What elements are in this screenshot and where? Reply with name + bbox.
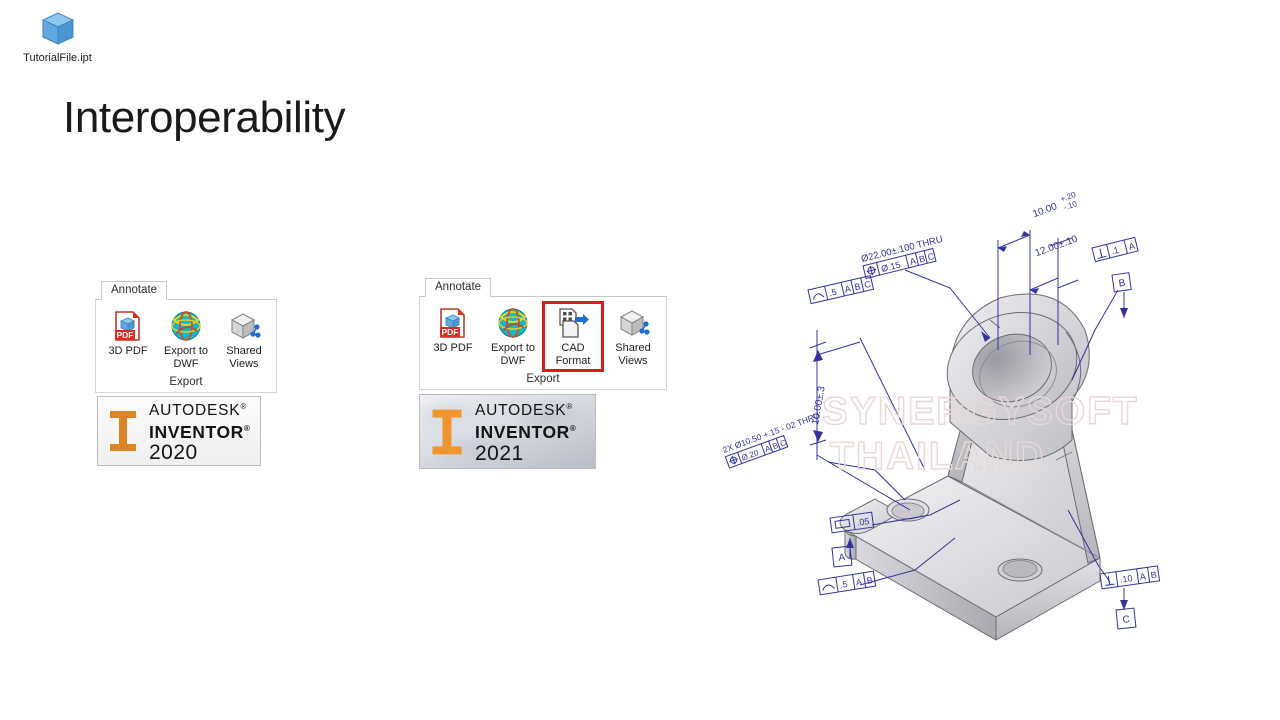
inventor-2021-logo: AUTODESK® INVENTOR® 2021 xyxy=(419,394,596,469)
ann-profile-left-a: A xyxy=(844,283,852,294)
ann-perp-right-tol: .1 xyxy=(1110,245,1120,257)
panel-group-label: Export xyxy=(100,373,272,392)
registered-mark: ® xyxy=(244,424,251,433)
pdf-3d-icon: PDF xyxy=(438,306,468,340)
button-label: Export to DWF xyxy=(488,342,538,368)
registered-mark: ® xyxy=(240,402,247,411)
ann-datum-c: C xyxy=(1122,614,1130,626)
button-label: Shared Views xyxy=(226,345,261,371)
ann-dim-12: 12.00±.10 xyxy=(1034,234,1080,260)
button-label: 3D PDF xyxy=(108,345,147,358)
shared-views-icon xyxy=(227,309,261,343)
logo-product: INVENTOR xyxy=(149,421,244,441)
button-shared-views[interactable]: Shared Views xyxy=(216,306,272,373)
registered-mark: ® xyxy=(570,424,577,433)
ann-profile-left-c: C xyxy=(863,279,872,290)
button-export-to-dwf[interactable]: Export to DWF xyxy=(158,306,214,373)
ann-perp-right-datum: A xyxy=(1128,241,1136,252)
button-label: 3D PDF xyxy=(433,342,472,355)
button-label: Export to DWF xyxy=(162,345,210,371)
svg-text:PDF: PDF xyxy=(117,330,134,340)
ann-perp-bottom-b: B xyxy=(1150,570,1157,581)
button-3d-pdf[interactable]: PDF 3D PDF xyxy=(100,306,156,360)
registered-mark: ® xyxy=(566,402,573,411)
ann-hole22-tol: Ø.15 xyxy=(880,260,901,274)
desktop-file-label: TutorialFile.ipt xyxy=(10,52,105,64)
export-panel: PDF 3D PDF Export to DWF xyxy=(419,297,667,390)
ipt-cube-icon xyxy=(10,8,105,50)
ann-perp-bottom-tol: .10 xyxy=(1119,573,1133,585)
ann-hole2x-b: B xyxy=(771,441,779,451)
cad-format-icon xyxy=(556,306,590,340)
ann-profile-bottom-tol: .5 xyxy=(839,579,848,590)
cad-model-view[interactable]: SYNERGYSOFT THAILAND xyxy=(700,170,1260,670)
ann-dim-10-top: 10.00 xyxy=(1031,201,1059,220)
cad-model-svg: Ø22.00±.100 THRU Ø.15 A B C 10.0 xyxy=(700,170,1260,670)
ann-profile-bottom-b: B xyxy=(866,575,874,586)
page-title: Interoperability xyxy=(63,93,345,143)
button-shared-views[interactable]: Shared Views xyxy=(604,303,662,370)
dwf-globe-icon xyxy=(170,309,202,343)
ann-profile-bottom-a: A xyxy=(855,577,863,588)
button-label: CAD Format xyxy=(548,342,598,368)
ann-profile-left-b: B xyxy=(853,281,861,292)
logo-brand: AUTODESK xyxy=(149,402,240,419)
logo-text: AUTODESK® INVENTOR® 2021 xyxy=(475,398,576,465)
logo-version: 2020 xyxy=(149,441,250,464)
autodesk-i-badge-icon xyxy=(428,405,466,459)
pdf-3d-icon: PDF xyxy=(113,309,143,343)
export-button-row: PDF 3D PDF Export to DWF xyxy=(424,303,662,370)
autodesk-i-badge-icon xyxy=(106,408,140,454)
svg-text:PDF: PDF xyxy=(442,327,459,337)
shared-views-icon xyxy=(616,306,650,340)
tab-annotate[interactable]: Annotate xyxy=(101,281,167,300)
ann-hole22-datum-a: A xyxy=(909,256,917,267)
dwf-globe-icon xyxy=(497,306,529,340)
tab-annotate[interactable]: Annotate xyxy=(425,278,491,297)
button-3d-pdf[interactable]: PDF 3D PDF xyxy=(424,303,482,357)
button-export-to-dwf[interactable]: Export to DWF xyxy=(484,303,542,370)
logo-text: AUTODESK® INVENTOR® 2020 xyxy=(149,398,250,465)
ribbon-tabstrip: Annotate xyxy=(419,278,667,297)
ann-flatness-tol: .05 xyxy=(856,516,870,528)
export-button-row: PDF 3D PDF Export to DWF xyxy=(100,306,272,373)
panel-group-label: Export xyxy=(424,370,662,389)
ipt-cube-icon-svg xyxy=(39,9,77,49)
logo-product: INVENTOR xyxy=(475,422,570,442)
ann-datum-b: B xyxy=(1118,278,1126,290)
button-label: Shared Views xyxy=(615,342,650,368)
ribbon-tabstrip: Annotate xyxy=(95,281,277,300)
logo-version: 2021 xyxy=(475,442,576,465)
ribbon-panel-inventor-2021: Annotate PDF 3D PDF xyxy=(419,278,667,390)
button-cad-format[interactable]: CAD Format xyxy=(544,303,602,370)
ribbon-panel-inventor-2020: Annotate PDF 3D PDF xyxy=(95,281,277,393)
ann-profile-left-tol: .5 xyxy=(828,287,838,298)
logo-brand: AUTODESK xyxy=(475,402,566,419)
desktop-file-shortcut[interactable]: TutorialFile.ipt xyxy=(10,8,105,64)
export-panel: PDF 3D PDF Export to DWF xyxy=(95,300,277,393)
inventor-2020-logo: AUTODESK® INVENTOR® 2020 xyxy=(97,396,261,466)
ann-perp-bottom-a: A xyxy=(1139,571,1146,582)
